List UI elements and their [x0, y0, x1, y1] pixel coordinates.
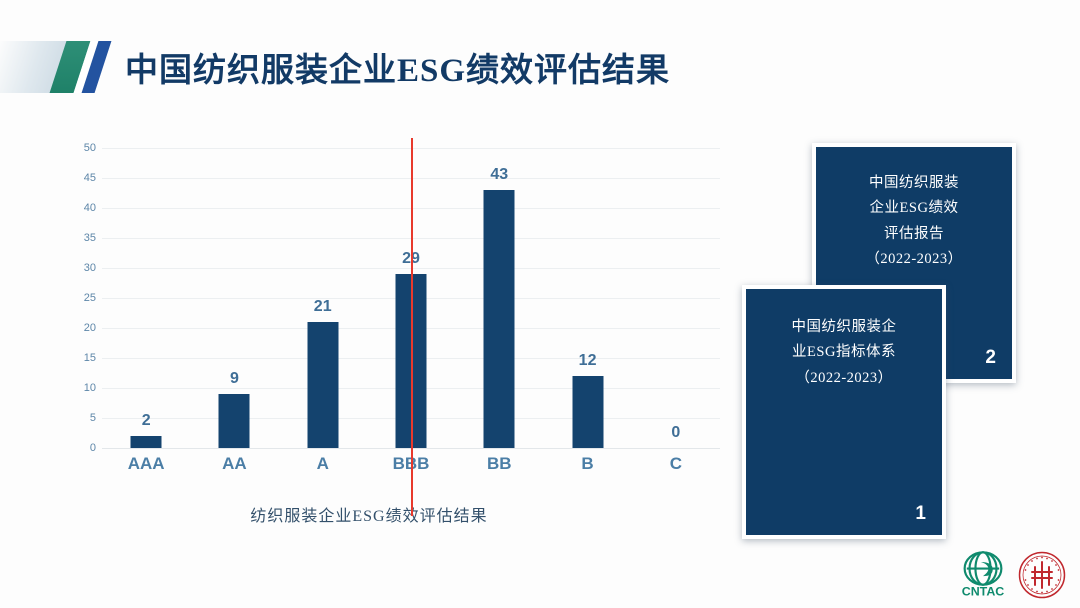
chart-y-tick-label: 20: [56, 322, 96, 334]
university-seal-logo-icon: [1017, 550, 1067, 600]
report-card-1-text: 中国纺织服装企 业ESG指标体系 （2022-2023）: [746, 315, 942, 391]
cntac-logo-icon: CNTAC: [955, 548, 1011, 602]
chart-bar-group[interactable]: 0: [632, 148, 720, 448]
cntac-logo-label: CNTAC: [962, 585, 1005, 599]
chart-x-tick-label: B: [543, 454, 631, 474]
chart-value-label: 0: [671, 424, 680, 442]
slide-title-bar: 中国纺织服装企业ESG绩效评估结果: [0, 38, 1080, 96]
chart-x-tick-label: C: [632, 454, 720, 474]
chart-bar-group[interactable]: 2: [102, 148, 190, 448]
chart-threshold-line: [411, 138, 413, 516]
chart-y-tick-label: 35: [56, 232, 96, 244]
title-slash-decoration-icon: [0, 41, 115, 93]
chart-bar[interactable]: [572, 376, 603, 448]
chart-y-tick-label: 5: [56, 412, 96, 424]
chart-bar[interactable]: [131, 436, 162, 448]
chart-bar-group[interactable]: 43: [455, 148, 543, 448]
chart-value-label: 43: [490, 166, 508, 184]
chart-bar[interactable]: [219, 394, 250, 448]
chart-x-tick-label: AAA: [102, 454, 190, 474]
chart-bar-group[interactable]: 9: [190, 148, 278, 448]
footer-logos: CNTAC: [955, 548, 1070, 603]
chart-y-tick-label: 15: [56, 352, 96, 364]
report-card-1-number: 1: [915, 503, 926, 525]
slide-canvas: 中国纺织服装企业ESG绩效评估结果 0510152025303540455029…: [0, 0, 1080, 608]
report-card-1[interactable]: 中国纺织服装企 业ESG指标体系 （2022-2023） 1: [742, 285, 946, 539]
chart-x-tick-label: AA: [190, 454, 278, 474]
chart-y-tick-label: 40: [56, 202, 96, 214]
chart-y-tick-label: 45: [56, 172, 96, 184]
chart-y-tick-label: 50: [56, 142, 96, 154]
chart-x-axis-title: 纺织服装企业ESG绩效评估结果: [60, 502, 678, 526]
chart-bar[interactable]: [484, 190, 515, 448]
chart-value-label: 9: [230, 370, 239, 388]
chart-value-label: 2: [142, 412, 151, 430]
chart-bar[interactable]: [307, 322, 338, 448]
page-title: 中国纺织服装企业ESG绩效评估结果: [125, 43, 670, 91]
report-card-2-text: 中国纺织服装 企业ESG绩效 评估报告 （2022-2023）: [816, 171, 1012, 273]
chart-y-tick-label: 25: [56, 292, 96, 304]
chart-x-tick-label: A: [279, 454, 367, 474]
chart-y-tick-label: 30: [56, 262, 96, 274]
report-card-2-number: 2: [985, 347, 996, 369]
chart-value-label: 12: [579, 352, 597, 370]
chart-y-tick-label: 0: [56, 442, 96, 454]
chart-bar-group[interactable]: 12: [543, 148, 631, 448]
chart-value-label: 21: [314, 298, 332, 316]
chart-bar-group[interactable]: 21: [279, 148, 367, 448]
chart-y-tick-label: 10: [56, 382, 96, 394]
bar-chart: 0510152025303540455029212943120 纺织服装企业ES…: [60, 130, 730, 540]
chart-x-tick-label: BB: [455, 454, 543, 474]
